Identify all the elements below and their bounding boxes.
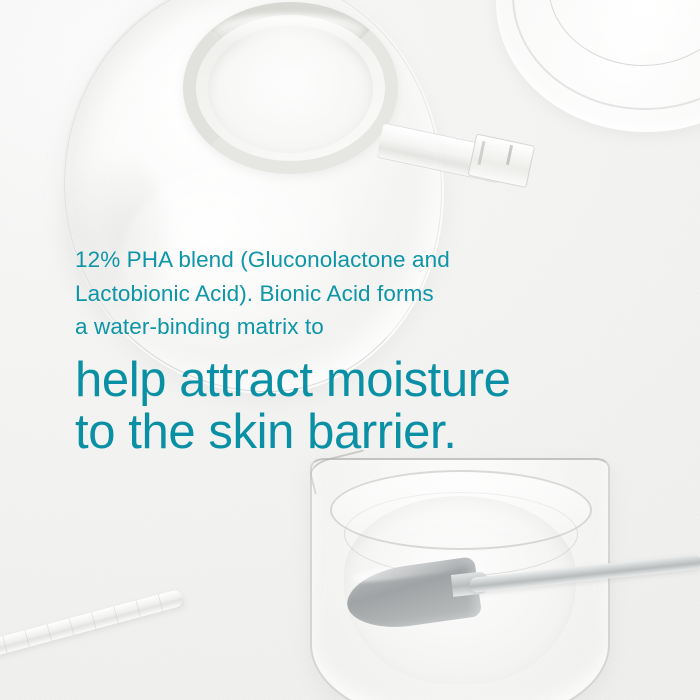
ingredient-description: 12% PHA blend (Gluconolactone and Lactob… (75, 243, 655, 344)
copy-block: 12% PHA blend (Gluconolactone and Lactob… (75, 243, 655, 458)
flask-neck-highlight (214, 14, 364, 48)
promo-image: 12% PHA blend (Gluconolactone and Lactob… (0, 0, 700, 700)
beaker-rim (330, 470, 592, 550)
headline: help attract moisture to the skin barrie… (75, 354, 655, 458)
